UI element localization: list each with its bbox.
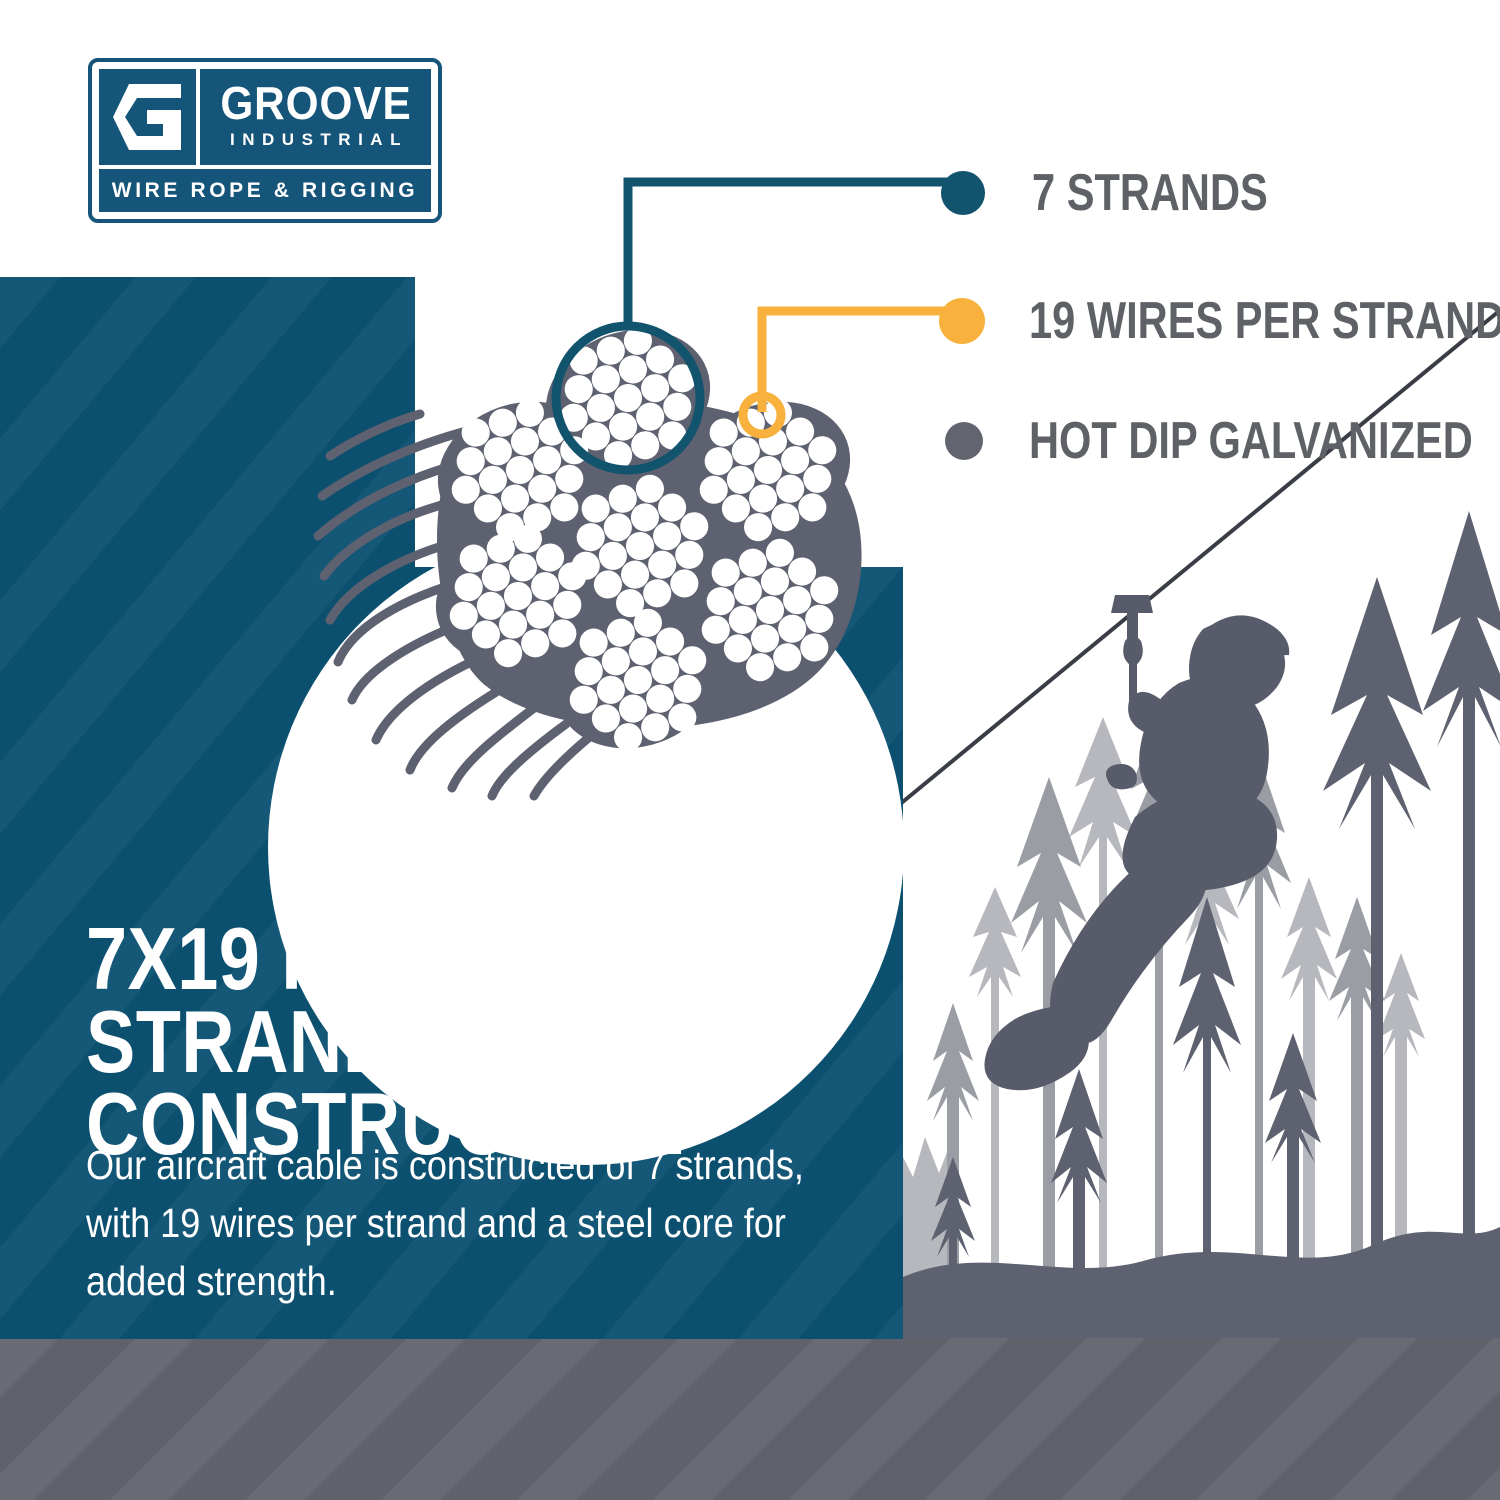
slate-band-bottom xyxy=(0,1338,1500,1500)
bullet-dot-icon xyxy=(941,171,985,215)
logo-tagline: WIRE ROPE & RIGGING xyxy=(112,179,418,203)
bullet-dot-icon xyxy=(939,298,985,344)
callout-label-strands: 7 STRANDS xyxy=(1032,163,1268,223)
logo-subtitle: INDUSTRIAL xyxy=(223,130,408,150)
callout-label-galvanized: HOT DIP GALVANIZED xyxy=(1029,411,1473,471)
bullet-dot-icon xyxy=(945,422,983,460)
callout-19-wires: 19 WIRES PER STRAND xyxy=(939,291,1500,351)
callout-label-wires: 19 WIRES PER STRAND xyxy=(1029,291,1500,351)
panel-headline: 7X19 FLEXIBLE STRAND CONSTRUCTION xyxy=(86,918,750,1166)
groove-g-mark-icon xyxy=(99,69,200,165)
illustration-disc-top-fill xyxy=(415,277,903,567)
logo-wordmark: GROOVE xyxy=(220,82,411,126)
brand-logo[interactable]: GROOVE INDUSTRIAL WIRE ROPE & RIGGING xyxy=(88,58,442,223)
infographic-canvas: GROOVE INDUSTRIAL WIRE ROPE & RIGGING 7 … xyxy=(0,0,1500,1500)
hexagon-g-icon xyxy=(111,82,185,152)
callout-hot-dip-galvanized: HOT DIP GALVANIZED xyxy=(945,411,1500,471)
panel-body-copy: Our aircraft cable is constructed of 7 s… xyxy=(86,1136,843,1311)
headline-line-1: 7X19 FLEXIBLE xyxy=(86,918,750,1001)
callout-7-strands: 7 STRANDS xyxy=(941,163,1327,223)
